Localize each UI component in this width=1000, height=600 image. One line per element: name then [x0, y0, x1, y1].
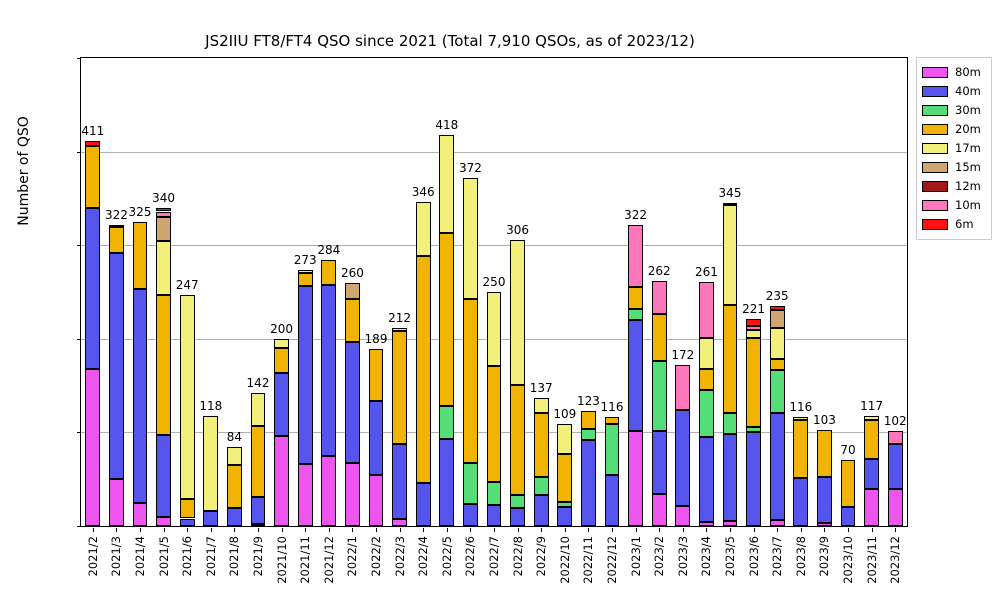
bar-2023-3[interactable]: [675, 58, 690, 526]
bar-2022-8[interactable]: [510, 58, 525, 526]
y-axis-tick-mark: [77, 339, 81, 340]
bar-segment-30m: [723, 413, 738, 435]
bar-segment-40m: [652, 431, 667, 494]
bar-segment-80m: [369, 475, 384, 526]
bar-segment-30m: [581, 429, 596, 440]
bar-segment-30m: [652, 361, 667, 431]
x-axis-tick-mark: [541, 528, 542, 532]
y-axis-tick-mark: [77, 245, 81, 246]
bar-segment-40m: [180, 519, 195, 526]
bar-segment-30m: [699, 390, 714, 437]
bar-segment-20m: [133, 222, 148, 289]
x-axis-tick-mark: [754, 528, 755, 532]
bar-segment-17m: [416, 202, 431, 256]
bar-total-label: 109: [545, 407, 585, 421]
bar-total-label: 212: [380, 311, 420, 325]
bar-segment-80m: [274, 436, 289, 526]
bar-segment-20m: [605, 417, 620, 424]
bar-segment-80m: [770, 520, 785, 526]
bar-segment-17m: [699, 338, 714, 369]
bar-segment-80m: [321, 456, 336, 526]
bar-segment-30m: [487, 482, 502, 505]
bar-2022-2[interactable]: [369, 58, 384, 526]
x-axis-tick-label: 2023/5: [723, 536, 737, 576]
legend-item-80m[interactable]: 80m: [922, 63, 987, 82]
bar-segment-17m: [770, 328, 785, 360]
bar-2022-11[interactable]: [581, 58, 596, 526]
bar-segment-30m: [746, 427, 761, 433]
legend-item-10m[interactable]: 10m: [922, 196, 987, 215]
bar-segment-80m: [699, 522, 714, 526]
x-axis-tick-label: 2023/7: [770, 536, 784, 576]
x-axis-tick-mark: [352, 528, 353, 532]
bar-total-label: 200: [262, 322, 302, 336]
y-axis-tick-mark: [77, 58, 81, 59]
bar-total-label: 262: [639, 264, 679, 278]
x-axis-tick-mark: [470, 528, 471, 532]
x-axis-tick-label: 2023/4: [699, 536, 713, 576]
bar-segment-20m: [463, 299, 478, 463]
x-axis-tick-mark: [683, 528, 684, 532]
bar-segment-17m: [510, 240, 525, 385]
bar-segment-40m: [133, 289, 148, 502]
bar-segment-40m: [251, 497, 266, 524]
bar-segment-20m: [180, 499, 195, 519]
x-axis-tick-label: 2022/5: [440, 536, 454, 576]
bar-segment-40m: [746, 432, 761, 526]
legend-swatch-17m: [922, 143, 948, 154]
legend-label: 12m: [955, 181, 981, 193]
bar-segment-17m: [227, 447, 242, 465]
bar-total-label: 84: [214, 430, 254, 444]
x-axis-tick-mark: [447, 528, 448, 532]
y-axis-tick-mark: [77, 432, 81, 433]
x-axis-tick-mark: [777, 528, 778, 532]
bar-segment-40m: [274, 373, 289, 436]
bar-segment-40m: [557, 507, 572, 526]
plot-area: 2021/24112021/33222021/43252021/53402021…: [80, 57, 908, 527]
bar-segment-20m: [534, 413, 549, 478]
legend-item-20m[interactable]: 20m: [922, 120, 987, 139]
bar-segment-40m: [416, 483, 431, 526]
bar-segment-30m: [534, 477, 549, 495]
bar-segment-40m: [156, 435, 171, 516]
bar-total-label: 70: [828, 443, 868, 457]
bar-total-label: 189: [356, 332, 396, 346]
bar-segment-40m: [369, 401, 384, 476]
bar-segment-40m: [510, 508, 525, 526]
bar-2021-6[interactable]: [180, 58, 195, 526]
bar-2023-2[interactable]: [652, 58, 667, 526]
x-axis-tick-label: 2022/10: [558, 536, 572, 584]
bar-segment-20m: [298, 273, 313, 286]
bar-segment-40m: [109, 253, 124, 480]
bar-total-label: 250: [474, 275, 514, 289]
x-axis-tick-mark: [305, 528, 306, 532]
x-axis-tick-label: 2023/9: [817, 536, 831, 576]
bar-segment-20m: [85, 146, 100, 208]
y-axis-tick-mark: [77, 152, 81, 153]
legend-item-15m[interactable]: 15m: [922, 158, 987, 177]
bar-2022-9[interactable]: [534, 58, 549, 526]
x-axis-tick-label: 2023/6: [747, 536, 761, 576]
bar-segment-80m: [817, 523, 832, 526]
bar-2023-1[interactable]: [628, 58, 643, 526]
bar-segment-20m: [227, 465, 242, 508]
x-axis-tick-label: 2021/4: [133, 536, 147, 576]
bar-2022-10[interactable]: [557, 58, 572, 526]
x-axis-tick-mark: [494, 528, 495, 532]
bar-total-label: 322: [616, 208, 656, 222]
bar-2021-10[interactable]: [274, 58, 289, 526]
x-axis-tick-label: 2022/8: [511, 536, 525, 576]
legend-item-12m[interactable]: 12m: [922, 177, 987, 196]
bar-segment-6m: [156, 208, 171, 212]
bar-total-label: 118: [191, 399, 231, 413]
legend-swatch-80m: [922, 67, 948, 78]
x-axis-tick-label: 2023/1: [629, 536, 643, 576]
bar-segment-20m: [628, 287, 643, 309]
x-axis-tick-mark: [400, 528, 401, 532]
x-axis-tick-label: 2021/5: [157, 536, 171, 576]
bar-segment-6m: [723, 203, 738, 205]
x-axis-tick-label: 2023/2: [652, 536, 666, 576]
bar-total-label: 372: [450, 161, 490, 175]
x-axis-tick-mark: [187, 528, 188, 532]
bar-segment-40m: [439, 439, 454, 526]
bar-total-label: 261: [686, 265, 726, 279]
x-axis-tick-mark: [258, 528, 259, 532]
x-axis-tick-label: 2021/3: [109, 536, 123, 576]
legend-swatch-40m: [922, 86, 948, 97]
bar-segment-20m: [557, 454, 572, 502]
bar-segment-20m: [510, 385, 525, 495]
x-axis-tick-label: 2022/4: [416, 536, 430, 576]
x-axis-tick-label: 2021/7: [204, 536, 218, 576]
x-axis-tick-label: 2021/11: [298, 536, 312, 584]
x-axis-tick-label: 2021/6: [180, 536, 194, 576]
bar-segment-20m: [251, 426, 266, 497]
bar-total-label: 284: [309, 243, 349, 257]
x-axis-tick-mark: [211, 528, 212, 532]
x-axis-tick-label: 2022/7: [487, 536, 501, 576]
legend: 80m40m30m20m17m15m12m10m6m: [916, 57, 992, 240]
x-axis-tick-label: 2021/9: [251, 536, 265, 576]
bar-segment-20m: [746, 338, 761, 427]
legend-swatch-6m: [922, 219, 948, 230]
x-axis-tick-label: 2021/8: [227, 536, 241, 576]
legend-item-30m[interactable]: 30m: [922, 101, 987, 120]
legend-swatch-15m: [922, 162, 948, 173]
bar-2023-5[interactable]: [723, 58, 738, 526]
bar-segment-15m: [345, 283, 360, 299]
x-axis-tick-label: 2021/2: [86, 536, 100, 576]
x-axis-tick-label: 2021/12: [322, 536, 336, 584]
bar-segment-40m: [675, 410, 690, 506]
bar-total-label: 221: [734, 302, 774, 316]
legend-swatch-30m: [922, 105, 948, 116]
bar-segment-10m: [156, 212, 171, 218]
x-axis-tick-label: 2022/11: [581, 536, 595, 584]
bar-segment-20m: [274, 348, 289, 373]
bar-total-label: 411: [73, 124, 113, 138]
bar-segment-40m: [864, 459, 879, 489]
bar-2023-8[interactable]: [793, 58, 808, 526]
bar-total-label: 247: [167, 278, 207, 292]
bar-total-label: 346: [403, 185, 443, 199]
x-axis-tick-mark: [116, 528, 117, 532]
x-axis-tick-mark: [234, 528, 235, 532]
bar-segment-80m: [675, 506, 690, 526]
bar-segment-30m: [557, 502, 572, 508]
bar-total-label: 103: [804, 413, 844, 427]
bar-segment-17m: [180, 295, 195, 499]
bar-2022-12[interactable]: [605, 58, 620, 526]
bar-segment-30m: [628, 309, 643, 320]
legend-item-17m[interactable]: 17m: [922, 139, 987, 158]
bar-segment-6m: [85, 141, 100, 146]
bar-segment-40m: [463, 504, 478, 526]
bar-segment-40m: [770, 413, 785, 521]
bar-segment-30m: [463, 463, 478, 504]
x-axis-tick-mark: [872, 528, 873, 532]
x-axis-tick-mark: [824, 528, 825, 532]
legend-label: 30m: [955, 105, 981, 117]
bar-segment-40m: [203, 511, 218, 526]
bar-segment-20m: [841, 460, 856, 507]
y-axis-tick-mark: [77, 526, 81, 527]
bar-segment-80m: [628, 431, 643, 526]
bar-2021-9[interactable]: [251, 58, 266, 526]
x-axis-tick-mark: [282, 528, 283, 532]
x-axis-tick-mark: [140, 528, 141, 532]
bar-segment-20m: [770, 359, 785, 369]
bar-segment-40m: [321, 285, 336, 455]
bar-segment-80m: [723, 521, 738, 526]
bar-segment-80m: [864, 489, 879, 526]
legend-swatch-10m: [922, 200, 948, 211]
x-axis-tick-mark: [848, 528, 849, 532]
bar-segment-30m: [439, 406, 454, 439]
x-axis-tick-label: 2023/11: [865, 536, 879, 584]
bar-segment-40m: [817, 477, 832, 523]
chart-title: JS2IIU FT8/FT4 QSO since 2021 (Total 7,9…: [0, 32, 900, 50]
bar-segment-40m: [793, 478, 808, 526]
bar-segment-15m: [156, 217, 171, 240]
x-axis-tick-label: 2023/12: [888, 536, 902, 584]
bar-total-label: 306: [498, 223, 538, 237]
bar-2021-4[interactable]: [133, 58, 148, 526]
bar-total-label: 235: [757, 289, 797, 303]
bar-segment-17m: [746, 330, 761, 337]
x-axis-tick-label: 2022/2: [369, 536, 383, 576]
x-axis-tick-mark: [423, 528, 424, 532]
bar-segment-40m: [699, 437, 714, 522]
x-axis-tick-mark: [518, 528, 519, 532]
legend-label: 6m: [955, 219, 974, 231]
x-axis-tick-mark: [659, 528, 660, 532]
bar-segment-40m: [345, 342, 360, 464]
legend-label: 20m: [955, 124, 981, 136]
bar-total-label: 116: [592, 400, 632, 414]
bar-total-label: 345: [710, 186, 750, 200]
x-axis-tick-mark: [730, 528, 731, 532]
bar-2022-1[interactable]: [345, 58, 360, 526]
bar-segment-30m: [605, 424, 620, 475]
bar-segment-80m: [85, 369, 100, 526]
legend-swatch-20m: [922, 124, 948, 135]
bar-segment-17m: [439, 135, 454, 233]
legend-swatch-12m: [922, 181, 948, 192]
bar-segment-20m: [723, 305, 738, 413]
bar-segment-40m: [85, 208, 100, 369]
bar-segment-30m: [510, 495, 525, 508]
bar-segment-10m: [888, 431, 903, 444]
x-axis-tick-label: 2022/6: [463, 536, 477, 576]
x-axis-tick-label: 2021/10: [275, 536, 289, 584]
x-axis-tick-mark: [329, 528, 330, 532]
bar-segment-40m: [298, 286, 313, 464]
bar-segment-40m: [534, 495, 549, 526]
bar-segment-40m: [605, 475, 620, 526]
bar-segment-80m: [652, 494, 667, 526]
bar-segment-17m: [298, 270, 313, 273]
bar-segment-20m: [109, 227, 124, 252]
bar-2023-4[interactable]: [699, 58, 714, 526]
bar-total-label: 260: [332, 266, 372, 280]
bar-segment-80m: [133, 503, 148, 526]
x-axis-tick-label: 2022/1: [345, 536, 359, 576]
bar-total-label: 102: [875, 414, 915, 428]
bar-2021-3[interactable]: [109, 58, 124, 526]
bar-total-label: 142: [238, 376, 278, 390]
bar-segment-20m: [416, 256, 431, 483]
x-axis-tick-mark: [565, 528, 566, 532]
bar-2021-12[interactable]: [321, 58, 336, 526]
bar-2022-7[interactable]: [487, 58, 502, 526]
bar-segment-80m: [251, 524, 266, 526]
bar-segment-80m: [156, 517, 171, 526]
bar-segment-10m: [652, 281, 667, 314]
x-axis-tick-mark: [895, 528, 896, 532]
x-axis-tick-label: 2023/10: [841, 536, 855, 584]
bar-2021-7[interactable]: [203, 58, 218, 526]
legend-label: 10m: [955, 200, 981, 212]
bar-segment-15m: [770, 310, 785, 328]
bar-2023-11[interactable]: [864, 58, 879, 526]
bar-segment-17m: [487, 292, 502, 366]
bar-segment-20m: [369, 349, 384, 400]
legend-item-6m[interactable]: 6m: [922, 215, 987, 234]
bar-segment-80m: [345, 463, 360, 526]
bar-segment-10m: [699, 282, 714, 338]
bar-segment-20m: [699, 369, 714, 391]
qso-bar-chart: JS2IIU FT8/FT4 QSO since 2021 (Total 7,9…: [0, 0, 1000, 600]
bar-total-label: 117: [852, 399, 892, 413]
bar-segment-17m: [557, 424, 572, 454]
bar-segment-6m: [746, 319, 761, 326]
bar-segment-20m: [392, 331, 407, 443]
bar-segment-40m: [487, 505, 502, 526]
bar-2021-11[interactable]: [298, 58, 313, 526]
bar-segment-10m: [675, 365, 690, 410]
x-axis-tick-label: 2022/3: [393, 536, 407, 576]
x-axis-tick-label: 2022/12: [605, 536, 619, 584]
x-axis-tick-mark: [164, 528, 165, 532]
x-axis-tick-label: 2023/3: [676, 536, 690, 576]
x-axis-tick-label: 2023/8: [794, 536, 808, 576]
bar-total-label: 418: [427, 118, 467, 132]
bar-2021-5[interactable]: [156, 58, 171, 526]
bar-total-label: 340: [144, 191, 184, 205]
x-axis-tick-mark: [801, 528, 802, 532]
legend-label: 40m: [955, 86, 981, 98]
legend-item-40m[interactable]: 40m: [922, 82, 987, 101]
bar-segment-6m: [770, 306, 785, 310]
bar-segment-17m: [392, 328, 407, 332]
bar-2023-12[interactable]: [888, 58, 903, 526]
x-axis-tick-mark: [636, 528, 637, 532]
bar-segment-20m: [793, 420, 808, 478]
x-axis-tick-label: 2022/9: [534, 536, 548, 576]
bar-segment-20m: [439, 233, 454, 406]
bar-segment-17m: [274, 339, 289, 348]
bar-segment-40m: [723, 434, 738, 521]
bar-segment-17m: [251, 393, 266, 426]
bar-2022-6[interactable]: [463, 58, 478, 526]
legend-label: 17m: [955, 143, 981, 155]
legend-label: 15m: [955, 162, 981, 174]
bar-segment-80m: [298, 464, 313, 526]
bar-2022-3[interactable]: [392, 58, 407, 526]
bar-total-label: 325: [120, 205, 160, 219]
bar-total-label: 172: [663, 348, 703, 362]
bar-total-label: 137: [521, 381, 561, 395]
bar-segment-20m: [487, 366, 502, 482]
legend-label: 80m: [955, 67, 981, 79]
bar-segment-80m: [109, 479, 124, 526]
x-axis-tick-mark: [612, 528, 613, 532]
bar-segment-10m: [746, 326, 761, 331]
bar-segment-20m: [156, 295, 171, 435]
bar-segment-6m: [109, 225, 124, 228]
x-axis-tick-mark: [93, 528, 94, 532]
bar-segment-40m: [581, 440, 596, 526]
y-axis-label: Number of QSO: [16, 91, 32, 251]
bar-segment-80m: [888, 489, 903, 526]
x-axis-tick-mark: [706, 528, 707, 532]
bar-segment-80m: [392, 519, 407, 526]
bar-segment-17m: [723, 205, 738, 305]
x-axis-tick-mark: [588, 528, 589, 532]
bar-segment-10m: [628, 225, 643, 288]
bar-segment-40m: [888, 444, 903, 490]
bar-segment-40m: [628, 320, 643, 430]
bar-2021-8[interactable]: [227, 58, 242, 526]
bar-segment-40m: [841, 507, 856, 526]
x-axis-tick-mark: [376, 528, 377, 532]
bar-segment-40m: [392, 444, 407, 519]
bar-segment-40m: [227, 508, 242, 526]
